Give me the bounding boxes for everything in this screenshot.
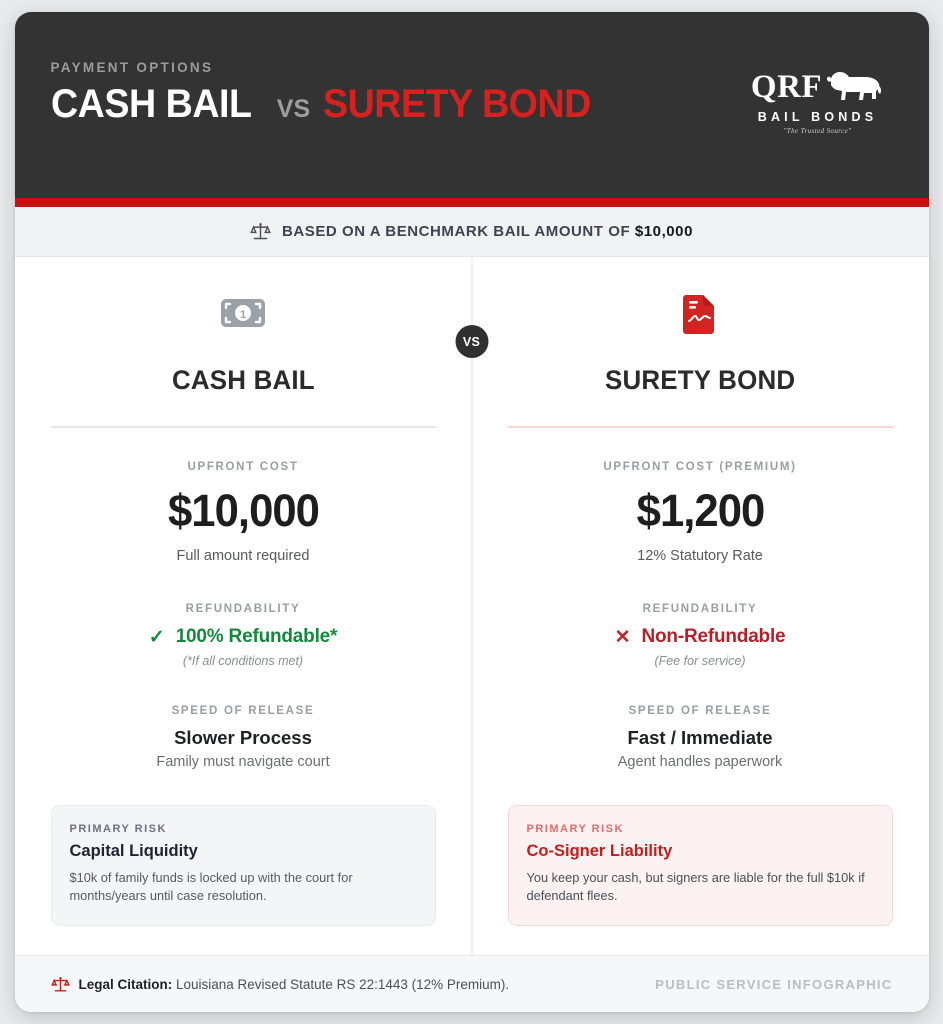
logo-tagline: "The Trusted Source"	[743, 127, 893, 135]
refundability-value: Non-Refundable	[642, 626, 786, 648]
speed-value: Fast / Immediate	[508, 727, 893, 749]
logo-top-row: QRF	[743, 68, 893, 106]
logo-wordmark: QRF	[751, 71, 822, 104]
risk-description: $10k of family funds is locked up with t…	[70, 869, 417, 905]
metric-label: SPEED OF RELEASE	[508, 705, 893, 717]
risk-label: PRIMARY RISK	[527, 823, 874, 835]
refundability-note: (Fee for service)	[508, 654, 893, 668]
metric-value: $10,000	[56, 487, 429, 534]
brand-logo: QRF BAIL BONDS "The Trusted Source"	[743, 68, 893, 135]
footer-citation-label: Legal Citation:	[79, 977, 173, 992]
metric-upfront-cost-surety: UPFRONT COST (PREMIUM) $1,200 12% Statut…	[508, 461, 893, 564]
footer-citation-group: Legal Citation: Louisiana Revised Statut…	[51, 975, 510, 994]
refundability-note: (*If all conditions met)	[51, 654, 436, 668]
refundability-value: 100% Refundable*	[176, 626, 338, 648]
metric-label: UPFRONT COST (PREMIUM)	[508, 461, 893, 473]
benchmark-band: BASED ON A BENCHMARK BAIL AMOUNT OF $10,…	[15, 207, 929, 257]
infographic-card: PAYMENT OPTIONS CASH BAIL VS SURETY BOND…	[15, 12, 929, 1012]
metric-label: UPFRONT COST	[51, 461, 436, 473]
logo-subtitle: BAIL BONDS	[743, 110, 893, 124]
risk-label: PRIMARY RISK	[70, 823, 417, 835]
risk-box-cash-bail: PRIMARY RISK Capital Liquidity $10k of f…	[51, 805, 436, 925]
benchmark-amount: $10,000	[635, 223, 693, 240]
header-title-row: CASH BAIL VS SURETY BOND	[51, 84, 609, 124]
metric-label: SPEED OF RELEASE	[51, 705, 436, 717]
metric-subtext: 12% Statutory Rate	[508, 548, 893, 564]
header-kicker: PAYMENT OPTIONS	[51, 60, 609, 75]
benchmark-text: BASED ON A BENCHMARK BAIL AMOUNT OF $10,…	[282, 223, 693, 240]
metric-speed-cash: SPEED OF RELEASE Slower Process Family m…	[51, 705, 436, 770]
cross-icon: ✕	[615, 628, 631, 647]
vs-badge: VS	[455, 325, 488, 358]
infographic-page: PAYMENT OPTIONS CASH BAIL VS SURETY BOND…	[0, 0, 943, 1024]
speed-subtext: Family must navigate court	[51, 754, 436, 770]
column-rule-surety-bond	[508, 426, 893, 428]
column-cash-bail: 1 CASH BAIL UPFRONT COST $10,000 Full am…	[15, 257, 472, 955]
column-rule-cash-bail	[51, 426, 436, 428]
header-title-main: CASH BAIL	[51, 84, 251, 124]
bison-icon	[824, 68, 884, 106]
metric-label: REFUNDABILITY	[508, 603, 893, 615]
metric-label: REFUNDABILITY	[51, 603, 436, 615]
footer-citation-text: Legal Citation: Louisiana Revised Statut…	[79, 977, 510, 992]
refundability-line: ✕ Non-Refundable	[508, 626, 893, 648]
signed-document-icon	[683, 290, 717, 336]
metric-upfront-cost-cash: UPFRONT COST $10,000 Full amount require…	[51, 461, 436, 564]
scales-of-justice-icon	[51, 975, 70, 994]
risk-box-surety-bond: PRIMARY RISK Co-Signer Liability You kee…	[508, 805, 893, 925]
speed-value: Slower Process	[51, 727, 436, 749]
metric-value: $1,200	[513, 487, 886, 534]
metric-refundability-cash: REFUNDABILITY ✓ 100% Refundable* (*If al…	[51, 603, 436, 668]
column-title-cash-bail: CASH BAIL	[172, 365, 315, 396]
metric-refundability-surety: REFUNDABILITY ✕ Non-Refundable (Fee for …	[508, 603, 893, 668]
check-icon: ✓	[149, 628, 165, 647]
header-title-vs: VS	[277, 95, 310, 124]
footer: Legal Citation: Louisiana Revised Statut…	[15, 955, 929, 1012]
risk-title: Co-Signer Liability	[527, 842, 874, 861]
column-divider	[471, 257, 472, 955]
metric-subtext: Full amount required	[51, 548, 436, 564]
metric-speed-surety: SPEED OF RELEASE Fast / Immediate Agent …	[508, 705, 893, 770]
header: PAYMENT OPTIONS CASH BAIL VS SURETY BOND…	[15, 12, 929, 198]
svg-text:1: 1	[240, 309, 246, 321]
header-titles: PAYMENT OPTIONS CASH BAIL VS SURETY BOND	[51, 60, 609, 124]
accent-bar	[15, 198, 929, 207]
money-bill-icon: 1	[220, 290, 266, 336]
header-title-alt: SURETY BOND	[323, 84, 591, 124]
comparison-body: VS 1 CASH BAIL UPFRONT COST $10,000 F	[15, 257, 929, 955]
footer-tagline: PUBLIC SERVICE INFOGRAPHIC	[655, 977, 892, 992]
scales-of-justice-icon	[250, 221, 271, 242]
risk-description: You keep your cash, but signers are liab…	[527, 869, 874, 905]
refundability-line: ✓ 100% Refundable*	[51, 626, 436, 648]
footer-citation-value: Louisiana Revised Statute RS 22:1443 (12…	[172, 977, 509, 992]
speed-subtext: Agent handles paperwork	[508, 754, 893, 770]
column-title-surety-bond: SURETY BOND	[605, 365, 795, 396]
risk-title: Capital Liquidity	[70, 842, 417, 861]
column-surety-bond: SURETY BOND UPFRONT COST (PREMIUM) $1,20…	[472, 257, 929, 955]
